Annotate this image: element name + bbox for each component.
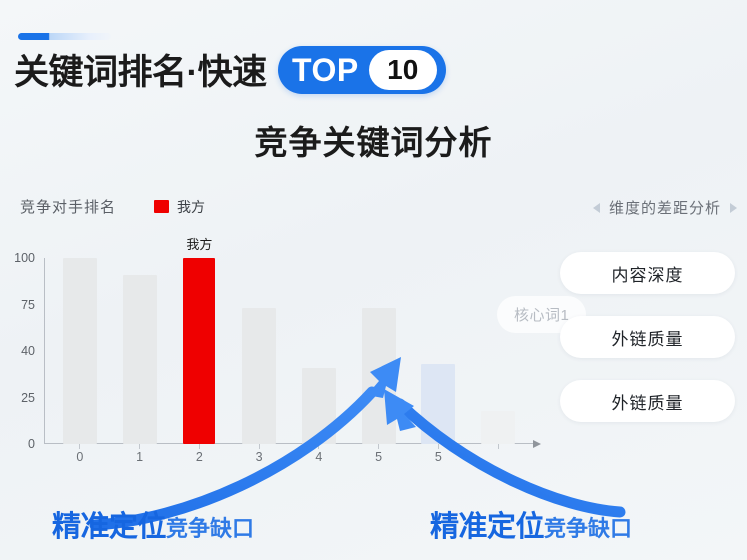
caption-strong: 精准定位: [430, 503, 544, 545]
panel-header: 维度的差距分析: [593, 197, 737, 218]
bar-slot[interactable]: [110, 258, 170, 444]
x-axis-labels: 0 1 2 3 4 5 5: [44, 450, 534, 464]
caption-right: 精准定位 竞争缺口: [430, 503, 632, 545]
y-tick-label: 40: [21, 344, 35, 358]
headline: 关键词排名·快速: [14, 44, 267, 100]
legend-label: 我方: [177, 197, 205, 217]
x-tick-label: 2: [170, 450, 230, 464]
chart-title: 竞争对手排名: [20, 196, 116, 217]
dimension-card-list: 内容深度 外链质量 外链质量: [560, 252, 735, 422]
bar[interactable]: [123, 275, 157, 444]
caption-sub: 竞争缺口: [544, 511, 632, 543]
bar-slot[interactable]: [229, 258, 289, 444]
bar[interactable]: [362, 308, 396, 444]
bar-slot[interactable]: [289, 258, 349, 444]
y-tick-label: 0: [28, 437, 35, 451]
bar-ghost[interactable]: [421, 364, 455, 444]
bar-faint[interactable]: [481, 411, 515, 444]
x-axis-arrow-icon: [533, 440, 541, 448]
x-tick-label: 4: [289, 450, 349, 464]
bar-caption: 我方: [186, 234, 212, 253]
legend-swatch-icon: [154, 200, 169, 213]
bar-chart-plot: 100 75 40 25 0 我方: [44, 258, 534, 444]
chart-legend: 我方: [154, 197, 205, 217]
headline-title: 关键词排名·快速: [14, 55, 267, 90]
top-badge-value: 10: [369, 50, 437, 90]
bar-group: 我方: [44, 258, 534, 444]
caption-sub: 竞争缺口: [166, 511, 254, 543]
top-badge-pill: TOP 10: [278, 46, 446, 94]
bar-slot[interactable]: [349, 258, 409, 444]
y-tick-label: 75: [21, 298, 35, 312]
triangle-left-icon: [593, 203, 600, 213]
bar-slot-highlight[interactable]: 我方: [170, 258, 230, 444]
x-tick-label: 5: [349, 450, 409, 464]
panel-title: 维度的差距分析: [609, 197, 721, 218]
dimension-card[interactable]: 外链质量: [560, 380, 735, 422]
x-tick-label: 1: [110, 450, 170, 464]
y-tick-label: 100: [14, 251, 35, 265]
x-tick-label: 5: [409, 450, 469, 464]
decorative-progress-bar: [18, 33, 111, 40]
caption-left: 精准定位 竞争缺口: [52, 503, 254, 545]
bar-highlight[interactable]: [183, 258, 215, 444]
page-subtitle: 竞争关键词分析: [0, 116, 747, 164]
bar-slot[interactable]: [468, 258, 528, 444]
bar[interactable]: [63, 258, 97, 444]
dimension-card[interactable]: 内容深度: [560, 252, 735, 294]
top-badge-label: TOP: [292, 54, 359, 86]
caption-strong: 精准定位: [52, 503, 166, 545]
bar-slot[interactable]: [409, 258, 469, 444]
dimension-card[interactable]: 外链质量: [560, 316, 735, 358]
triangle-right-icon: [730, 203, 737, 213]
bar[interactable]: [242, 308, 276, 444]
bar-slot[interactable]: [50, 258, 110, 444]
poster-canvas: 关键词排名·快速 TOP 10 竞争关键词分析 竞争对手排名 我方 维度的差距分…: [0, 0, 747, 560]
chart-header: 竞争对手排名 我方: [20, 196, 205, 217]
bar[interactable]: [302, 368, 336, 444]
x-tick-label: 3: [229, 450, 289, 464]
x-tick-label: 0: [50, 450, 110, 464]
y-tick-label: 25: [21, 391, 35, 405]
